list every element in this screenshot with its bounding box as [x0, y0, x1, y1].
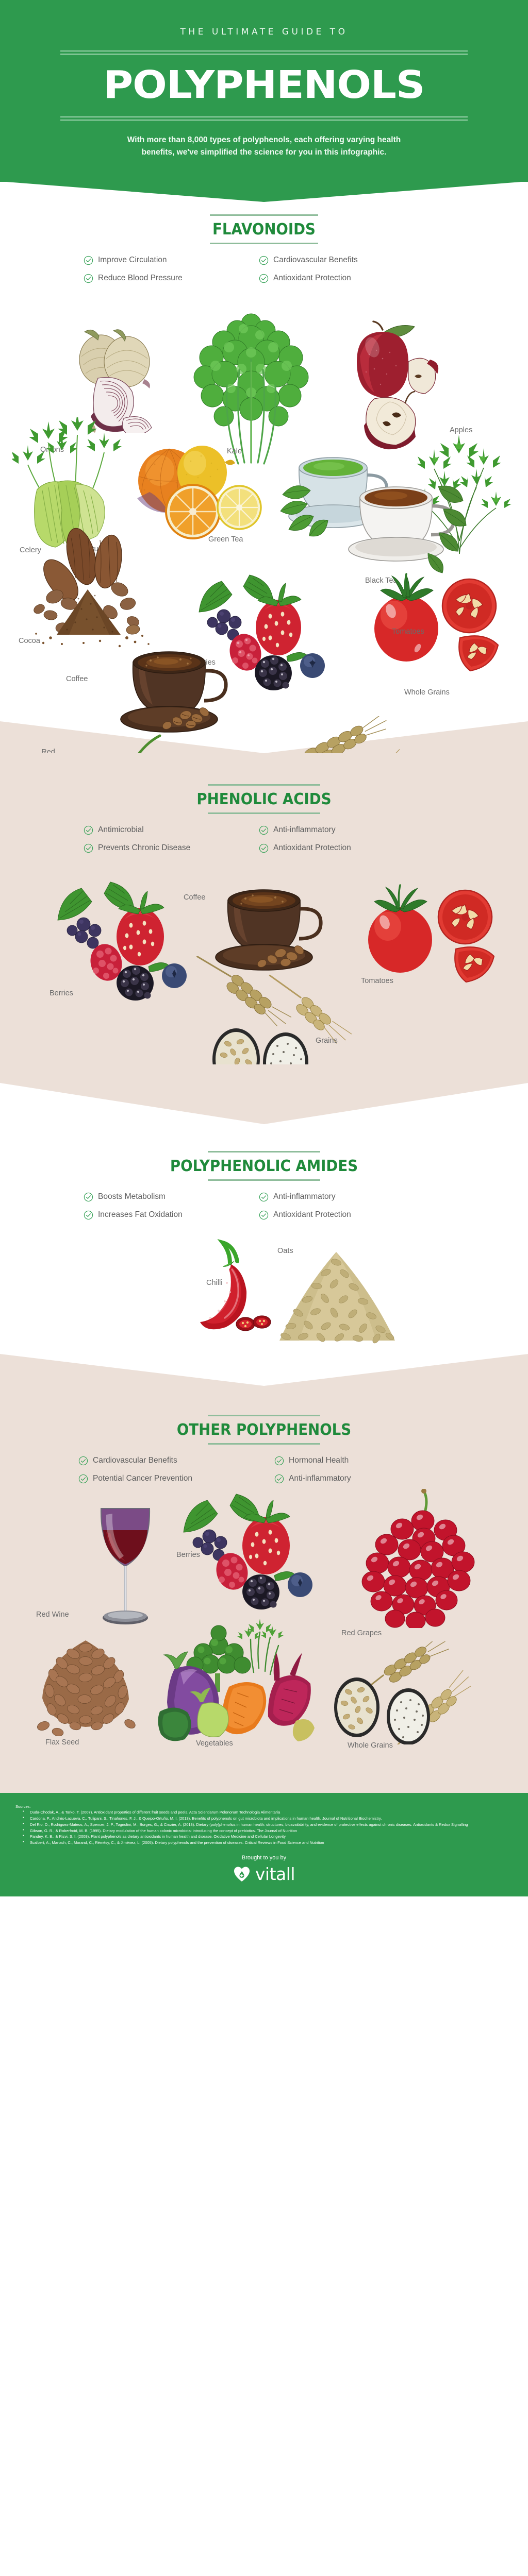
vegetables-illustration [146, 1612, 317, 1751]
check-circle-icon [274, 1474, 284, 1484]
label-coffee: Coffee [184, 893, 205, 902]
page-title: POLYPHENOLS [0, 55, 528, 116]
section-title: FLAVONOIDS [21, 221, 507, 239]
heading-rule-bottom [208, 1179, 320, 1181]
label-red-grapes: Red Grapes [341, 1629, 382, 1638]
cocoa-illustration [32, 527, 181, 655]
other-heading: OTHER POLYPHENOLS [0, 1386, 528, 1445]
heading-rule-top [208, 1151, 320, 1153]
footer: Sources: Duda-Chodak, A., & Tarko, T. (2… [0, 1793, 528, 1896]
benefit-item: Boosts Metabolism [84, 1192, 259, 1202]
heart-droplet-cross-icon [233, 1866, 251, 1883]
benefit-item: Improve Circulation [84, 256, 259, 265]
section-phenolic-acids: PHENOLIC ACIDS Antimicrobial Anti-inflam… [0, 753, 528, 1083]
amides-benefits: Boosts Metabolism Anti-inflammatory Incr… [84, 1192, 444, 1220]
benefit-item: Antioxidant Protection [259, 1210, 444, 1220]
phenolic-acids-benefits: Antimicrobial Anti-inflammatory Prevents… [84, 825, 444, 853]
phenolic-acids-food-collage: Berries [0, 853, 528, 1070]
berries-illustration [178, 1489, 333, 1623]
section-other-polyphenols: OTHER POLYPHENOLS Cardiovascular Benefit… [0, 1386, 528, 1793]
label-red-wine: Red Wine [36, 1611, 69, 1619]
benefit-item: Potential Cancer Prevention [78, 1474, 274, 1484]
label-berries: Berries [176, 1551, 200, 1560]
flavonoids-heading: FLAVONOIDS [0, 202, 528, 244]
flax-seed-illustration [28, 1638, 146, 1736]
heading-rule-top [208, 1415, 320, 1416]
hero-rule-top [60, 50, 468, 55]
benefit-label: Antioxidant Protection [273, 843, 351, 853]
benefit-label: Potential Cancer Prevention [93, 1474, 192, 1483]
wedge-white-to-beige-2 [0, 1354, 528, 1386]
heading-rule-bottom [208, 1443, 320, 1445]
hero-kicker: THE ULTIMATE GUIDE TO [0, 27, 528, 50]
benefit-item: Anti-inflammatory [274, 1474, 439, 1484]
infographic-page: THE ULTIMATE GUIDE TO POLYPHENOLS With m… [0, 0, 528, 1896]
section-title: OTHER POLYPHENOLS [21, 1421, 507, 1439]
check-circle-icon [274, 1456, 284, 1466]
benefit-item: Hormonal Health [274, 1456, 439, 1466]
phenolic-acids-heading: PHENOLIC ACIDS [0, 753, 528, 814]
section-title: POLYPHENOLIC AMIDES [21, 1157, 507, 1175]
check-circle-icon [84, 843, 93, 853]
label-whole-grains: Whole Grains [404, 688, 450, 697]
label-green-tea: Green Tea [208, 535, 243, 544]
check-circle-icon [78, 1456, 88, 1466]
hero-header: THE ULTIMATE GUIDE TO POLYPHENOLS With m… [0, 0, 528, 182]
wedge-beige-to-white [0, 1083, 528, 1124]
brand-logo[interactable]: vitall [0, 1864, 528, 1886]
benefit-item: Antimicrobial [84, 825, 259, 835]
benefit-label: Prevents Chronic Disease [98, 843, 190, 853]
other-benefits: Cardiovascular Benefits Hormonal Health … [78, 1456, 450, 1484]
check-circle-icon [84, 1210, 93, 1220]
benefit-label: Increases Fat Oxidation [98, 1210, 183, 1219]
check-circle-icon [84, 274, 93, 283]
source-item: Del Rio, D., Rodriguez-Mateos, A., Spenc… [23, 1822, 509, 1828]
check-circle-icon [84, 825, 93, 835]
label-berries: Berries [49, 989, 73, 998]
hero-subtitle: With more than 8,000 types of polyphenol… [114, 121, 414, 182]
hero-rule-bottom [60, 116, 468, 121]
heading-rule-top [210, 214, 318, 216]
tomatoes-illustration [357, 571, 511, 684]
label-cocoa: Cocoa [19, 637, 40, 646]
label-vegetables: Vegetables [196, 1739, 233, 1748]
check-circle-icon [78, 1474, 88, 1484]
check-circle-icon [259, 274, 269, 283]
benefit-item: Reduce Blood Pressure [84, 274, 259, 283]
benefit-item: Cardiovascular Benefits [78, 1456, 274, 1466]
heading-rule-bottom [208, 812, 320, 814]
benefit-label: Anti-inflammatory [289, 1474, 351, 1483]
label-chilli: Chilli [206, 1279, 222, 1287]
other-food-collage: Red Wine [0, 1484, 528, 1772]
grains-illustration [170, 956, 366, 1064]
heading-rule-top [208, 784, 320, 786]
sources-list: Duda-Chodak, A., & Tarko, T. (2007). Ant… [0, 1810, 528, 1846]
section-polyphenolic-amides: POLYPHENOLIC AMIDES Boosts Metabolism An… [0, 1124, 528, 1354]
source-item: Duda-Chodak, A., & Tarko, T. (2007). Ant… [23, 1810, 509, 1816]
benefit-item: Antioxidant Protection [259, 843, 444, 853]
section-title: PHENOLIC ACIDS [21, 790, 507, 808]
benefit-label: Hormonal Health [289, 1456, 349, 1465]
benefit-item: Antioxidant Protection [259, 274, 444, 283]
check-circle-icon [259, 1210, 269, 1220]
benefit-label: Cardiovascular Benefits [273, 256, 358, 265]
label-grains: Grains [316, 1037, 338, 1045]
onions-illustration [66, 325, 174, 433]
red-grapes-illustration [351, 1489, 495, 1628]
check-circle-icon [84, 1192, 93, 1202]
section-flavonoids: FLAVONOIDS Improve Circulation Cardiovas… [0, 202, 528, 721]
source-item: Pandey, K. B., & Rizvi, S. I. (2009). Pl… [23, 1834, 509, 1840]
benefit-label: Improve Circulation [98, 256, 167, 265]
check-circle-icon [259, 825, 269, 835]
label-flax-seed: Flax Seed [45, 1738, 79, 1747]
label-oats: Oats [277, 1247, 293, 1256]
heading-rule-bottom [210, 243, 318, 244]
source-item: Scalbert, A., Manach, C., Morand, C., Ré… [23, 1840, 509, 1846]
benefit-label: Reduce Blood Pressure [98, 274, 183, 283]
wedge-green-to-white [0, 181, 528, 202]
label-whole-grains: Whole Grains [348, 1741, 393, 1750]
benefit-label: Antimicrobial [98, 825, 144, 835]
whole-grains-illustration [320, 1641, 495, 1744]
check-circle-icon [259, 1192, 269, 1202]
check-circle-icon [84, 256, 93, 265]
label-coffee: Coffee [66, 675, 88, 684]
benefit-item: Anti-inflammatory [259, 825, 444, 835]
source-item: Gibson, G. R., & Roberfroid, M. B. (1995… [23, 1828, 509, 1834]
source-item: Cardona, F., Andrés-Lacueva, C., Tulipan… [23, 1816, 509, 1822]
flavonoids-food-collage: Onions [0, 283, 528, 721]
benefit-label: Antioxidant Protection [273, 274, 351, 283]
benefit-label: Antioxidant Protection [273, 1210, 351, 1219]
brought-to-you-by: Brought to you by [0, 1846, 528, 1864]
benefit-item: Prevents Chronic Disease [84, 843, 259, 853]
amides-heading: POLYPHENOLIC AMIDES [0, 1124, 528, 1181]
check-circle-icon [259, 256, 269, 265]
oats-pile-illustration [270, 1247, 404, 1350]
amides-food-collage: Chilli [0, 1220, 528, 1349]
benefit-item: Increases Fat Oxidation [84, 1210, 259, 1220]
label-tomatoes: Tomatoes [392, 628, 424, 636]
benefit-label: Cardiovascular Benefits [93, 1456, 177, 1465]
sources-title: Sources: [0, 1804, 528, 1810]
benefit-label: Anti-inflammatory [273, 1192, 336, 1201]
benefit-item: Anti-inflammatory [259, 1192, 444, 1202]
benefit-item: Cardiovascular Benefits [259, 256, 444, 265]
flavonoids-benefits: Improve Circulation Cardiovascular Benef… [84, 256, 444, 283]
benefit-label: Boosts Metabolism [98, 1192, 166, 1201]
check-circle-icon [259, 843, 269, 853]
brand-name: vitall [255, 1864, 295, 1884]
benefit-label: Anti-inflammatory [273, 825, 336, 835]
